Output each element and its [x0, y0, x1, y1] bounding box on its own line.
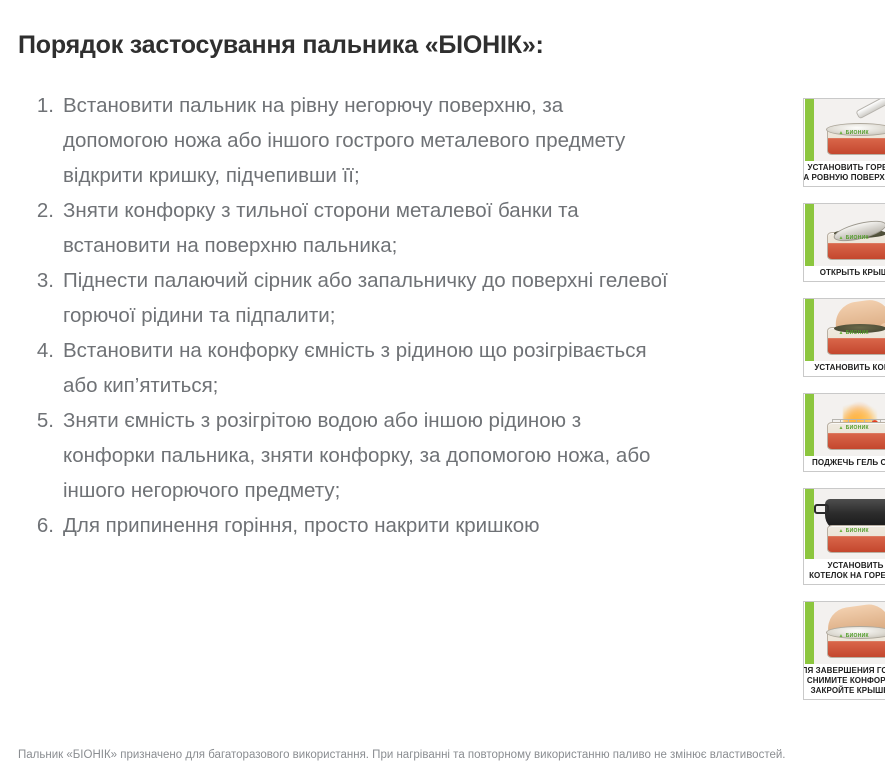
step-text: Зняти ємність з розігрітою водою або інш…	[63, 403, 674, 508]
can-brand-label: БИОНИК	[839, 130, 869, 136]
caption-line: ПОДЖЕЧЬ ГЕЛЬ СПИЧКОЙ	[804, 458, 885, 468]
photo-place-pot-on-burner: БИОНИК	[804, 489, 885, 559]
open-lid-icon	[831, 217, 885, 246]
caption-line: КОТЕЛОК НА ГОРЕЛКУ	[804, 571, 885, 581]
photo-open-lid: БИОНИК	[804, 204, 885, 266]
caption-line: УСТАНОВИТЬ КОНФОРКУ	[804, 363, 885, 373]
green-bar-left-icon	[805, 602, 814, 664]
step-number: 6.	[24, 508, 63, 543]
list-item: 1. Встановити пальник на рівну негорючу …	[24, 88, 674, 193]
instruction-page: Порядок застосування пальника «БІОНІК»: …	[0, 0, 885, 771]
caption-line: ЗАКРОЙТЕ КРЫШКОЙ	[804, 686, 885, 696]
photo-install-burner-grate: БИОНИК	[804, 299, 885, 361]
steps-list: 1. Встановити пальник на рівну негорючу …	[24, 88, 674, 543]
step-text: Встановити на конфорку ємність з рідиною…	[63, 333, 674, 403]
thumbnail-place-pot-on-burner[interactable]: БИОНИК УСТАНОВИТЬ КОТЕЛОК НА ГОРЕЛКУ	[803, 488, 885, 585]
caption-line: УСТАНОВИТЬ	[804, 561, 885, 571]
thumbnail-caption: УСТАНОВИТЬ КОНФОРКУ	[804, 361, 885, 376]
caption-line: УСТАНОВИТЬ ГОРЕЛКУ	[804, 163, 885, 173]
thumbnail-light-gel-with-match[interactable]: БИОНИК ПОДЖЕЧЬ ГЕЛЬ СПИЧКОЙ	[803, 393, 885, 472]
fuel-can-icon: БИОНИК	[827, 630, 885, 658]
fuel-can-icon: БИОНИК	[827, 127, 885, 155]
step-text: Для припинення горіння, просто накрити к…	[63, 508, 674, 543]
caption-line: НА РОВНУЮ ПОВЕРХНОСТЬ	[804, 173, 885, 183]
fuel-can-icon: БИОНИК	[827, 327, 885, 355]
photo-scene: БИОНИК	[814, 489, 885, 559]
green-bar-left-icon	[805, 489, 814, 559]
photo-install-burner-on-level-surface: БИОНИК	[804, 99, 885, 161]
thumbnail-caption: УСТАНОВИТЬ КОТЕЛОК НА ГОРЕЛКУ	[804, 559, 885, 584]
can-brand-label: БИОНИК	[839, 528, 869, 534]
thumbnail-caption: ОТКРЫТЬ КРЫШКУ	[804, 266, 885, 281]
can-brand-label: БИОНИК	[839, 425, 869, 431]
photo-scene: БИОНИК	[814, 602, 885, 664]
thumbnail-column: БИОНИК УСТАНОВИТЬ ГОРЕЛКУ НА РОВНУЮ ПОВЕ…	[763, 82, 876, 712]
can-brand-label: БИОНИК	[839, 330, 869, 336]
list-item: 5. Зняти ємність з розігрітою водою або …	[24, 403, 674, 508]
green-bar-left-icon	[805, 299, 814, 361]
thumbnail-caption: УСТАНОВИТЬ ГОРЕЛКУ НА РОВНУЮ ПОВЕРХНОСТЬ	[804, 161, 885, 186]
fuel-can-icon: БИОНИК	[827, 232, 885, 260]
step-text: Піднести палаючий сірник або запальничку…	[63, 263, 674, 333]
list-item: 3. Піднести палаючий сірник або запальни…	[24, 263, 674, 333]
step-number: 3.	[24, 263, 63, 298]
step-number: 2.	[24, 193, 63, 228]
photo-light-gel-with-match: БИОНИК	[804, 394, 885, 456]
photo-close-lid-to-extinguish: БИОНИК	[804, 602, 885, 664]
list-item: 6. Для припинення горіння, просто накрит…	[24, 508, 674, 543]
photo-scene: БИОНИК	[814, 299, 885, 361]
step-text: Встановити пальник на рівну негорючу пов…	[63, 88, 674, 193]
caption-line: СНИМИТЕ КОНФОРКУ И	[804, 676, 885, 686]
page-title: Порядок застосування пальника «БІОНІК»:	[18, 31, 544, 60]
step-number: 5.	[24, 403, 63, 438]
footer-note: Пальник «БІОНІК» призначено для багатора…	[18, 747, 873, 763]
photo-scene: БИОНИК	[814, 204, 885, 266]
caption-line: ОТКРЫТЬ КРЫШКУ	[804, 268, 885, 278]
step-text: Зняти конфорку з тильної сторони металев…	[63, 193, 674, 263]
thumbnail-open-lid[interactable]: БИОНИК ОТКРЫТЬ КРЫШКУ	[803, 203, 885, 282]
thumbnail-caption: ПОДЖЕЧЬ ГЕЛЬ СПИЧКОЙ	[804, 456, 885, 471]
step-number: 4.	[24, 333, 63, 368]
list-item: 4. Встановити на конфорку ємність з ріди…	[24, 333, 674, 403]
thumbnail-caption: ДЛЯ ЗАВЕРШЕНИЯ ГОРЕНИЯ СНИМИТЕ КОНФОРКУ …	[804, 664, 885, 699]
thumbnail-install-burner-on-level-surface[interactable]: БИОНИК УСТАНОВИТЬ ГОРЕЛКУ НА РОВНУЮ ПОВЕ…	[803, 98, 885, 187]
can-brand-label: БИОНИК	[839, 235, 869, 241]
thumbnail-close-lid-to-extinguish[interactable]: БИОНИК ДЛЯ ЗАВЕРШЕНИЯ ГОРЕНИЯ СНИМИТЕ КО…	[803, 601, 885, 700]
photo-scene: БИОНИК	[814, 99, 885, 161]
fuel-can-icon: БИОНИК	[827, 422, 885, 450]
photo-scene: БИОНИК	[814, 394, 885, 456]
green-bar-left-icon	[805, 204, 814, 266]
green-bar-left-icon	[805, 99, 814, 161]
list-item: 2. Зняти конфорку з тильної сторони мета…	[24, 193, 674, 263]
green-bar-left-icon	[805, 394, 814, 456]
can-brand-label: БИОНИК	[839, 633, 869, 639]
knife-icon	[855, 99, 885, 119]
caption-line: ДЛЯ ЗАВЕРШЕНИЯ ГОРЕНИЯ	[804, 666, 885, 676]
fuel-can-icon: БИОНИК	[827, 525, 885, 553]
step-number: 1.	[24, 88, 63, 123]
thumbnail-install-burner-grate[interactable]: БИОНИК УСТАНОВИТЬ КОНФОРКУ	[803, 298, 885, 377]
